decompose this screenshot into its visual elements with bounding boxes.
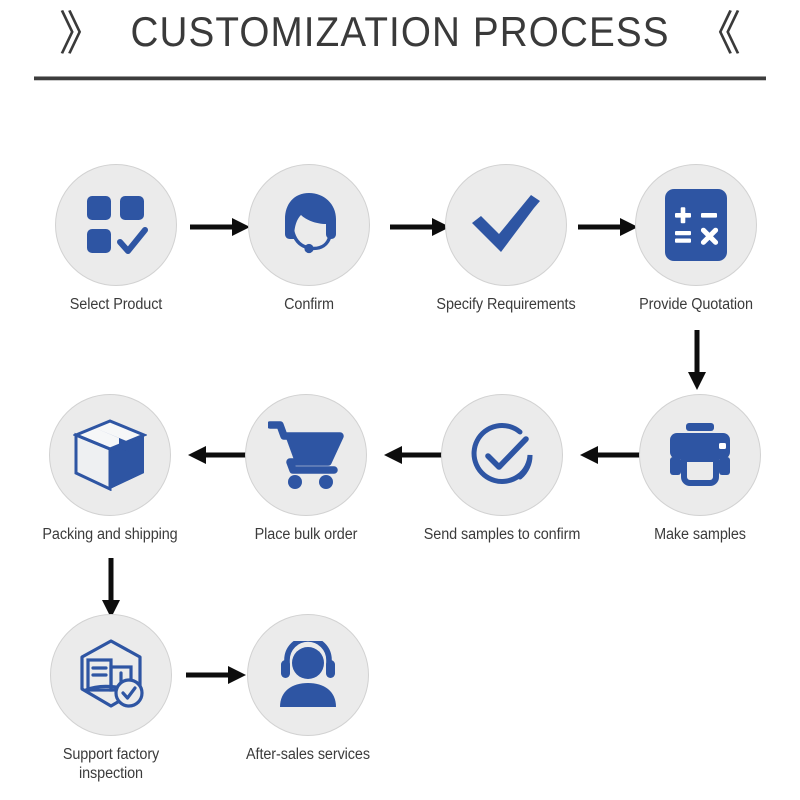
step-icon-circle bbox=[50, 614, 172, 736]
step-icon-circle bbox=[248, 164, 370, 286]
package-box-icon bbox=[73, 419, 147, 491]
checkmark-icon bbox=[468, 190, 544, 260]
step-label: Make samples bbox=[618, 525, 782, 544]
customer-service-agent-icon bbox=[270, 186, 348, 264]
step-icon-circle bbox=[49, 394, 171, 516]
page-title-text: CUSTOMIZATION PROCESS bbox=[130, 8, 671, 56]
grid-check-icon bbox=[83, 192, 149, 258]
printer-icon bbox=[662, 423, 738, 487]
step-label: Provide Quotation bbox=[614, 295, 778, 314]
step-icon-circle bbox=[247, 614, 369, 736]
step-node-provide-quotation[interactable]: Provide Quotation bbox=[608, 164, 784, 314]
step-label: Support factory inspection bbox=[29, 745, 193, 783]
step-icon-circle bbox=[441, 394, 563, 516]
page-title: 》CUSTOMIZATION PROCESS《 bbox=[0, 8, 800, 58]
arrow-step4-to-step5 bbox=[686, 330, 708, 392]
chevron-right-decoration: 《 bbox=[694, 11, 741, 58]
step-node-after-sales-services[interactable]: After-sales services bbox=[220, 614, 396, 764]
step-icon-circle bbox=[639, 394, 761, 516]
step-node-make-samples[interactable]: Make samples bbox=[612, 394, 788, 544]
step-label: Send samples to confirm bbox=[420, 525, 584, 544]
step-icon-circle bbox=[635, 164, 757, 286]
chevron-left-decoration: 》 bbox=[59, 11, 106, 58]
step-label: Packing and shipping bbox=[28, 525, 192, 544]
step-node-support-factory-inspection[interactable]: Support factory inspection bbox=[23, 614, 199, 783]
step-label: Place bulk order bbox=[224, 525, 388, 544]
step-label: Specify Requirements bbox=[424, 295, 588, 314]
shopping-cart-icon bbox=[268, 420, 344, 490]
title-divider bbox=[34, 76, 766, 81]
arrow-step8-to-step9 bbox=[100, 558, 122, 620]
step-node-place-bulk-order[interactable]: Place bulk order bbox=[218, 394, 394, 544]
step-label: After-sales services bbox=[226, 745, 390, 764]
step-label: Confirm bbox=[227, 295, 391, 314]
step-node-specify-requirements[interactable]: Specify Requirements bbox=[418, 164, 594, 314]
step-node-select-product[interactable]: Select Product bbox=[28, 164, 204, 314]
step-node-send-samples-to-confirm[interactable]: Send samples to confirm bbox=[414, 394, 590, 544]
step-icon-circle bbox=[445, 164, 567, 286]
factory-inspection-badge-icon bbox=[74, 638, 148, 712]
step-icon-circle bbox=[55, 164, 177, 286]
circle-check-icon bbox=[464, 417, 540, 493]
headset-support-icon bbox=[271, 641, 345, 709]
page-header: 》CUSTOMIZATION PROCESS《 bbox=[0, 0, 800, 92]
step-icon-circle bbox=[245, 394, 367, 516]
step-label: Select Product bbox=[34, 295, 198, 314]
step-node-confirm[interactable]: Confirm bbox=[221, 164, 397, 314]
step-node-packing-and-shipping[interactable]: Packing and shipping bbox=[22, 394, 198, 544]
calculator-icon bbox=[665, 189, 727, 261]
